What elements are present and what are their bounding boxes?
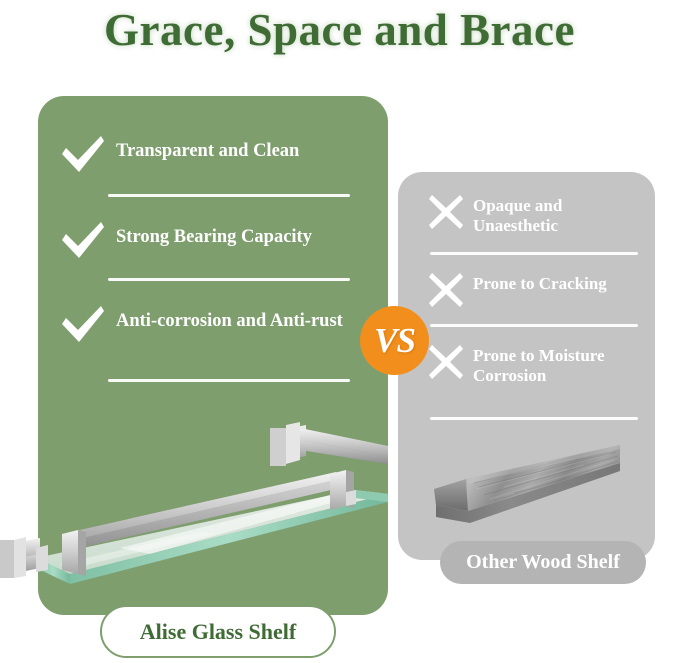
- vs-label: VS: [374, 323, 415, 358]
- feature-label: Prone to Cracking: [473, 272, 607, 294]
- wood-shelf-label-text: Other Wood Shelf: [466, 551, 620, 574]
- cross-icon: [428, 194, 464, 230]
- glass-shelf-product-image: [0, 398, 400, 598]
- feature-row-strong-bearing: Strong Bearing Capacity: [60, 220, 372, 260]
- cross-icon: [428, 272, 464, 308]
- feature-label: Transparent and Clean: [116, 134, 299, 163]
- feature-label: Anti-corrosion and Anti-rust: [116, 304, 343, 333]
- check-icon: [60, 220, 106, 260]
- comparison-infographic: Grace, Space and Brace Transparent and C…: [0, 0, 679, 663]
- wood-shelf-label-pill: Other Wood Shelf: [440, 541, 646, 584]
- glass-shelf-label-pill: Alise Glass Shelf: [100, 605, 336, 658]
- divider-line: [108, 278, 350, 281]
- divider-line: [430, 252, 638, 255]
- feature-row-opaque-unaesthetic: Opaque and Unaesthetic: [428, 194, 640, 236]
- divider-line: [430, 417, 638, 420]
- vs-badge-circle: VS: [360, 306, 429, 375]
- feature-label: Prone to Moisture Corrosion: [473, 344, 640, 386]
- glass-shelf-label-text: Alise Glass Shelf: [140, 619, 296, 645]
- check-icon: [60, 304, 106, 344]
- feature-label: Opaque and Unaesthetic: [473, 194, 640, 236]
- feature-row-moisture-corrosion: Prone to Moisture Corrosion: [428, 344, 640, 386]
- feature-row-anti-corrosion: Anti-corrosion and Anti-rust: [60, 304, 372, 344]
- feature-row-prone-cracking: Prone to Cracking: [428, 272, 640, 308]
- wood-shelf-product-image: [424, 443, 624, 543]
- feature-label: Strong Bearing Capacity: [116, 220, 312, 249]
- divider-line: [108, 379, 350, 382]
- check-icon: [60, 134, 106, 174]
- divider-line: [108, 194, 350, 197]
- page-title: Grace, Space and Brace: [0, 4, 679, 56]
- feature-row-transparent-clean: Transparent and Clean: [60, 134, 372, 174]
- cross-icon: [428, 344, 464, 380]
- divider-line: [430, 324, 638, 327]
